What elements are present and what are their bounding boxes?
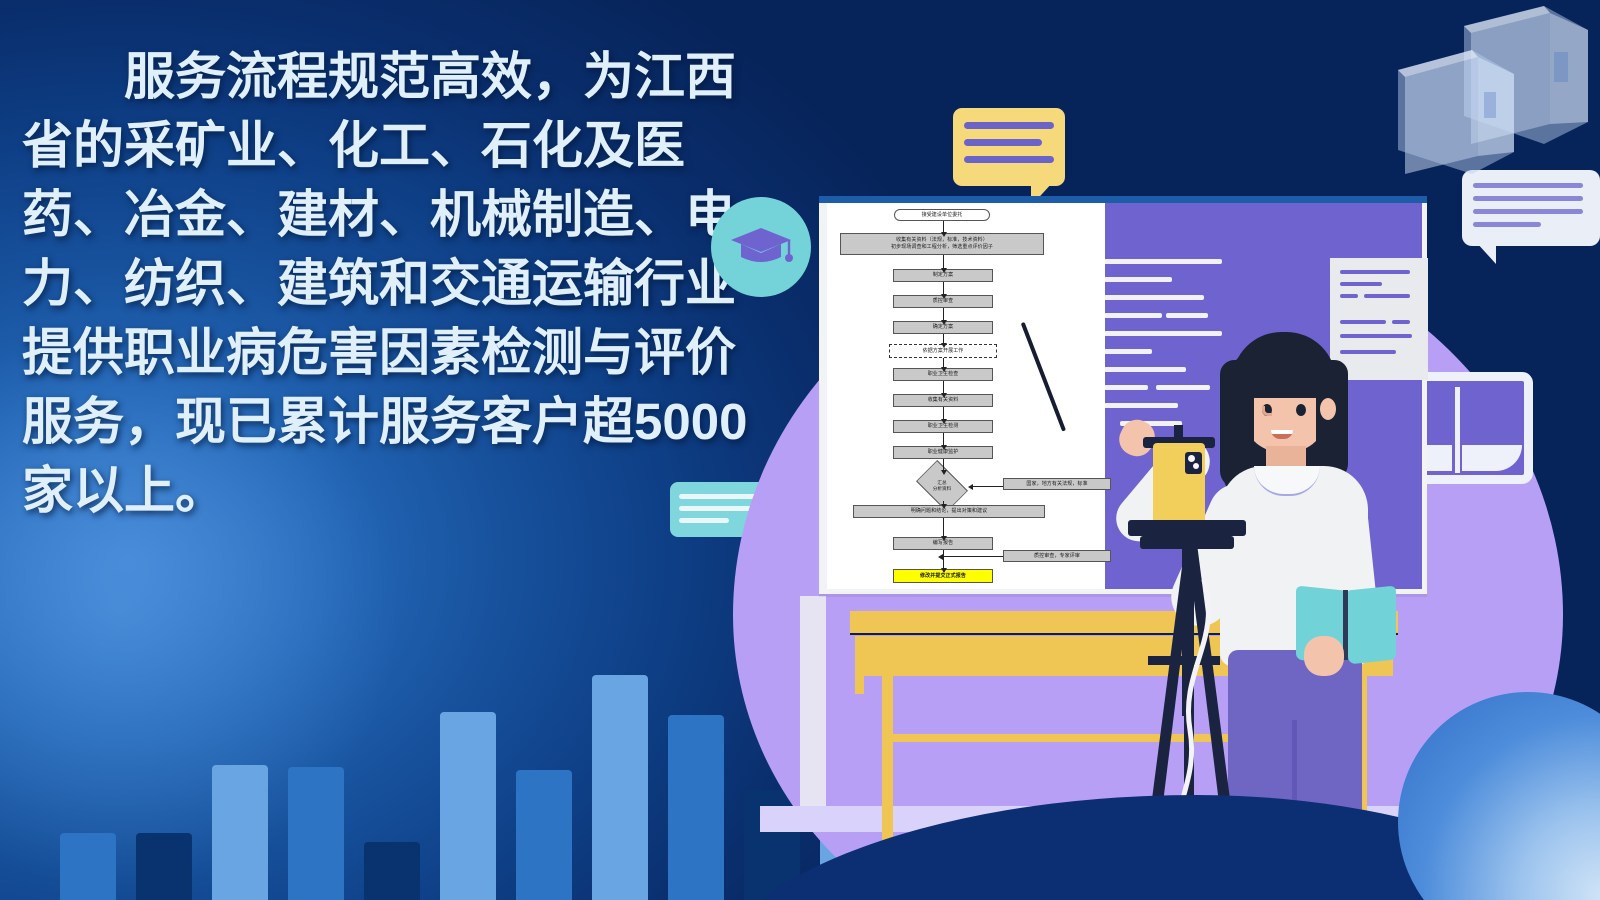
flow-node: 接受建设单位委托	[894, 209, 990, 221]
book-page-right	[1462, 445, 1522, 471]
books-icon	[1376, 4, 1600, 184]
board-line	[1104, 313, 1162, 318]
chart-bar	[212, 765, 268, 900]
flow-arrow	[943, 501, 944, 505]
book-spine	[1343, 590, 1348, 660]
page-title: 服务流程规范高效，为江西省的采矿业、化工、石化及医药、冶金、建材、机械制造、电力…	[22, 42, 764, 525]
flow-arrow	[943, 358, 944, 368]
flow-arrow	[943, 308, 944, 321]
process-flowchart: 接受建设单位委托收集有关资料（法规，标准，技术资料） 初步现场调查和工程分析，筛…	[827, 203, 1105, 589]
board-line	[1166, 313, 1208, 318]
poster-canvas: 服务流程规范高效，为江西省的采矿业、化工、石化及医药、冶金、建材、机械制造、电力…	[0, 0, 1600, 900]
flow-arrow	[943, 459, 944, 471]
bubble-line	[1473, 209, 1583, 214]
bubble-line	[1473, 196, 1583, 201]
ear	[1320, 398, 1336, 420]
projector-lens	[1185, 452, 1202, 474]
board-line	[1104, 259, 1222, 264]
note-line	[679, 506, 759, 511]
flow-arrow	[943, 221, 944, 233]
graduation-cap-icon	[711, 197, 811, 297]
bubble-line	[964, 122, 1054, 129]
hand-right	[1304, 636, 1344, 676]
chart-bar	[516, 770, 572, 900]
chart-bar	[440, 712, 496, 900]
book-spine	[1455, 387, 1460, 473]
flow-arrow	[943, 282, 944, 295]
eye	[1296, 404, 1306, 416]
chart-bar	[364, 842, 420, 900]
chart-bar	[136, 833, 192, 900]
flow-arrow	[943, 381, 944, 394]
flow-arrow	[943, 518, 944, 537]
hair-side-right	[1316, 360, 1348, 480]
board-line	[1104, 295, 1204, 300]
tripod-plate-upper	[1128, 520, 1246, 536]
bubble-line	[964, 156, 1054, 163]
flow-arrow	[943, 407, 944, 420]
flow-node: 国家，地方有关法规，标准	[1003, 478, 1111, 490]
flow-arrow	[943, 433, 944, 446]
desk-side	[855, 676, 864, 694]
poster-line	[1340, 270, 1410, 274]
speech-bubble-icon	[953, 108, 1065, 186]
wall-edge	[800, 596, 826, 826]
chart-bar	[288, 767, 344, 900]
nose	[1262, 406, 1272, 416]
board-line	[1104, 277, 1172, 282]
board-line	[1104, 403, 1178, 408]
board-line	[1104, 349, 1152, 354]
flow-arrow	[943, 255, 944, 269]
book-page-right	[1348, 585, 1396, 664]
chart-bar	[592, 675, 648, 900]
note-line	[679, 494, 759, 499]
flow-node: 明确问题和结论，提出对策和建议	[853, 505, 1045, 518]
flow-connector	[943, 556, 1003, 557]
bubble-line	[964, 139, 1042, 146]
poster-line	[1340, 294, 1358, 298]
board-line	[1104, 385, 1148, 390]
flow-arrow	[943, 334, 944, 344]
lens-dot	[1188, 455, 1195, 462]
flow-arrow	[943, 550, 944, 569]
lens-dot	[1193, 463, 1199, 469]
flow-connector	[973, 486, 1003, 487]
flow-node-decision: 汇总 分析资料	[911, 471, 973, 501]
decorative-bar-chart	[0, 480, 820, 900]
chart-bar	[60, 833, 116, 900]
poster-line	[1340, 282, 1382, 286]
board-line	[1104, 367, 1186, 372]
bubble-line	[1473, 222, 1541, 227]
flow-node-label: 汇总 分析资料	[911, 471, 973, 501]
chart-bar	[668, 715, 724, 900]
note-line	[679, 518, 729, 523]
poster-line	[1364, 294, 1410, 298]
teeth	[1271, 430, 1293, 434]
